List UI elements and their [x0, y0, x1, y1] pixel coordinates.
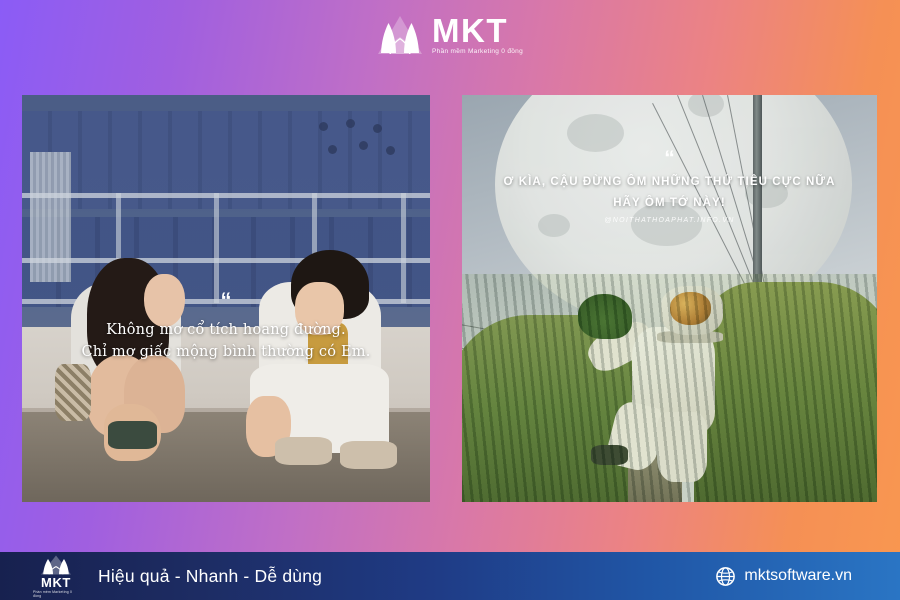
astronaut-quote-text: Ơ KÌA, CẬU ĐỪNG ÔM NHỮNG THỨ TIÊU CỰC NỮ… [462, 172, 877, 213]
quote-line: Chỉ mơ giấc mộng bình thường có Em. [22, 341, 430, 363]
footer-brand-block: MKT Phần mềm Marketing 0 đồng [33, 555, 79, 598]
footer-website[interactable]: mktsoftware.vn [716, 567, 852, 586]
footer-brand-name: MKT [41, 576, 71, 589]
quote-line: HÃY ÔM TỚ NÀY! [462, 193, 877, 214]
footer-slogan: Hiệu quả - Nhanh - Dễ dùng [98, 566, 322, 587]
couple-quote-overlay: “ Không mơ cổ tích hoang đường. Chỉ mơ g… [22, 95, 430, 502]
header-brand-tagline: Phần mềm Marketing 0 đồng [432, 48, 523, 55]
astronaut-quote-photo[interactable]: “ Ơ KÌA, CẬU ĐỪNG ÔM NHỮNG THỨ TIÊU CỰC … [462, 95, 877, 502]
quote-line: Ơ KÌA, CẬU ĐỪNG ÔM NHỮNG THỨ TIÊU CỰC NỮ… [462, 172, 877, 193]
footer-website-label: mktsoftware.vn [744, 567, 852, 585]
page-footer: MKT Phần mềm Marketing 0 đồng Hiệu quả -… [0, 552, 900, 600]
gallery: “ Không mơ cổ tích hoang đường. Chỉ mơ g… [0, 70, 900, 510]
quote-mark-icon: “ [22, 290, 430, 312]
page-header: MKT Phần mềm Marketing 0 đồng [0, 0, 900, 70]
header-brand-name: MKT [432, 15, 508, 46]
quote-line: Không mơ cổ tích hoang đường. [22, 319, 430, 341]
couple-quote-photo[interactable]: “ Không mơ cổ tích hoang đường. Chỉ mơ g… [22, 95, 430, 502]
quote-mark-icon: “ [462, 148, 877, 169]
couple-quote-text: Không mơ cổ tích hoang đường. Chỉ mơ giấ… [22, 319, 430, 364]
quote-attribution: @NOITHATHOAPHAT.INFO.VN [462, 217, 877, 224]
footer-brand-tagline: Phần mềm Marketing 0 đồng [33, 590, 79, 598]
header-brand-block: MKT Phần mềm Marketing 0 đồng [432, 15, 523, 55]
globe-icon [716, 567, 735, 586]
astronaut-quote-overlay: “ Ơ KÌA, CẬU ĐỪNG ÔM NHỮNG THỨ TIÊU CỰC … [462, 95, 877, 502]
mkt-mountain-logo-icon [377, 15, 423, 55]
mkt-mountain-logo-icon [40, 555, 72, 575]
